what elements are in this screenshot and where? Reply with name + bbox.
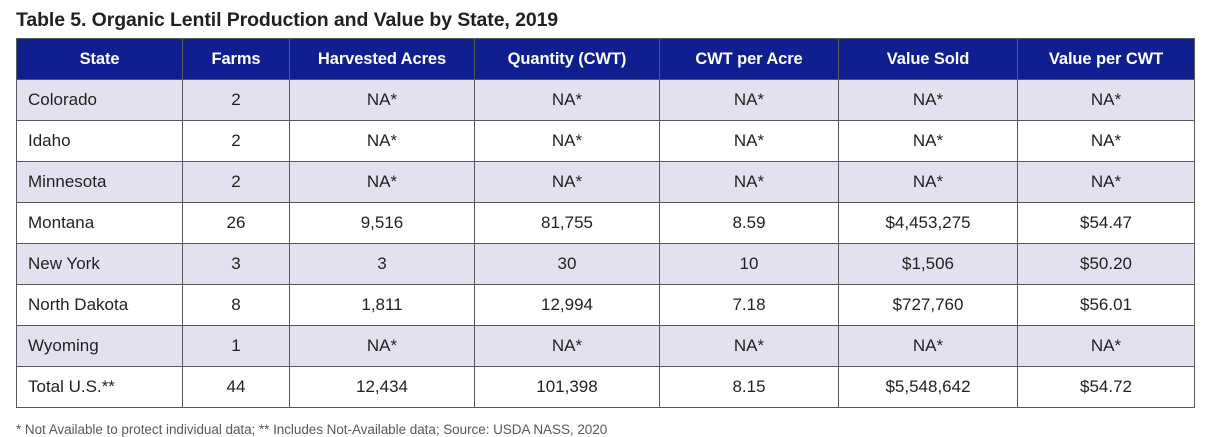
cell-farms: 2 xyxy=(183,162,290,203)
cell-value-sold: $1,506 xyxy=(839,244,1018,285)
cell-value-per-cwt: $50.20 xyxy=(1018,244,1195,285)
cell-value-per-cwt: $54.72 xyxy=(1018,367,1195,408)
table-row: Montana 26 9,516 81,755 8.59 $4,453,275 … xyxy=(17,203,1195,244)
cell-value-sold: NA* xyxy=(839,162,1018,203)
table-row-total: Total U.S.** 44 12,434 101,398 8.15 $5,5… xyxy=(17,367,1195,408)
cell-cwt-per-acre: 8.15 xyxy=(660,367,839,408)
cell-state: Total U.S.** xyxy=(17,367,183,408)
column-header-cwt-per-acre: CWT per Acre xyxy=(660,39,839,80)
cell-quantity-cwt: 81,755 xyxy=(475,203,660,244)
cell-state: Minnesota xyxy=(17,162,183,203)
cell-harvested-acres: NA* xyxy=(290,326,475,367)
cell-state: North Dakota xyxy=(17,285,183,326)
cell-cwt-per-acre: 8.59 xyxy=(660,203,839,244)
cell-quantity-cwt: NA* xyxy=(475,121,660,162)
cell-state: Wyoming xyxy=(17,326,183,367)
cell-quantity-cwt: NA* xyxy=(475,162,660,203)
table-row: North Dakota 8 1,811 12,994 7.18 $727,76… xyxy=(17,285,1195,326)
table-header-row: State Farms Harvested Acres Quantity (CW… xyxy=(17,39,1195,80)
cell-value-sold: $727,760 xyxy=(839,285,1018,326)
table-header: State Farms Harvested Acres Quantity (CW… xyxy=(17,39,1195,80)
table-row: Minnesota 2 NA* NA* NA* NA* NA* xyxy=(17,162,1195,203)
cell-quantity-cwt: 12,994 xyxy=(475,285,660,326)
cell-state: New York xyxy=(17,244,183,285)
cell-value-sold: $5,548,642 xyxy=(839,367,1018,408)
cell-value-sold: $4,453,275 xyxy=(839,203,1018,244)
cell-quantity-cwt: 30 xyxy=(475,244,660,285)
cell-farms: 3 xyxy=(183,244,290,285)
cell-farms: 44 xyxy=(183,367,290,408)
cell-cwt-per-acre: NA* xyxy=(660,162,839,203)
cell-cwt-per-acre: NA* xyxy=(660,326,839,367)
cell-farms: 1 xyxy=(183,326,290,367)
cell-value-per-cwt: NA* xyxy=(1018,80,1195,121)
table-body: Colorado 2 NA* NA* NA* NA* NA* Idaho 2 N… xyxy=(17,80,1195,408)
column-header-harvested-acres: Harvested Acres xyxy=(290,39,475,80)
cell-state: Colorado xyxy=(17,80,183,121)
column-header-farms: Farms xyxy=(183,39,290,80)
cell-harvested-acres: 12,434 xyxy=(290,367,475,408)
cell-harvested-acres: NA* xyxy=(290,80,475,121)
cell-harvested-acres: 9,516 xyxy=(290,203,475,244)
cell-harvested-acres: 1,811 xyxy=(290,285,475,326)
cell-state: Montana xyxy=(17,203,183,244)
cell-farms: 26 xyxy=(183,203,290,244)
cell-quantity-cwt: 101,398 xyxy=(475,367,660,408)
cell-value-per-cwt: NA* xyxy=(1018,121,1195,162)
cell-value-sold: NA* xyxy=(839,121,1018,162)
cell-harvested-acres: 3 xyxy=(290,244,475,285)
cell-value-sold: NA* xyxy=(839,80,1018,121)
column-header-value-sold: Value Sold xyxy=(839,39,1018,80)
column-header-state: State xyxy=(17,39,183,80)
table-row: Colorado 2 NA* NA* NA* NA* NA* xyxy=(17,80,1195,121)
cell-farms: 2 xyxy=(183,121,290,162)
cell-farms: 8 xyxy=(183,285,290,326)
table-row: Idaho 2 NA* NA* NA* NA* NA* xyxy=(17,121,1195,162)
cell-value-per-cwt: $56.01 xyxy=(1018,285,1195,326)
column-header-quantity-cwt: Quantity (CWT) xyxy=(475,39,660,80)
cell-value-per-cwt: NA* xyxy=(1018,162,1195,203)
cell-value-per-cwt: $54.47 xyxy=(1018,203,1195,244)
table-row: New York 3 3 30 10 $1,506 $50.20 xyxy=(17,244,1195,285)
table-row: Wyoming 1 NA* NA* NA* NA* NA* xyxy=(17,326,1195,367)
cell-value-sold: NA* xyxy=(839,326,1018,367)
cell-harvested-acres: NA* xyxy=(290,121,475,162)
cell-farms: 2 xyxy=(183,80,290,121)
cell-cwt-per-acre: NA* xyxy=(660,121,839,162)
column-header-value-per-cwt: Value per CWT xyxy=(1018,39,1195,80)
cell-value-per-cwt: NA* xyxy=(1018,326,1195,367)
cell-cwt-per-acre: NA* xyxy=(660,80,839,121)
cell-quantity-cwt: NA* xyxy=(475,326,660,367)
cell-harvested-acres: NA* xyxy=(290,162,475,203)
cell-cwt-per-acre: 10 xyxy=(660,244,839,285)
cell-quantity-cwt: NA* xyxy=(475,80,660,121)
cell-state: Idaho xyxy=(17,121,183,162)
page-title: Table 5. Organic Lentil Production and V… xyxy=(16,0,1194,35)
table-figure: Table 5. Organic Lentil Production and V… xyxy=(0,0,1210,423)
organic-lentil-production-table: State Farms Harvested Acres Quantity (CW… xyxy=(16,38,1195,408)
cell-cwt-per-acre: 7.18 xyxy=(660,285,839,326)
